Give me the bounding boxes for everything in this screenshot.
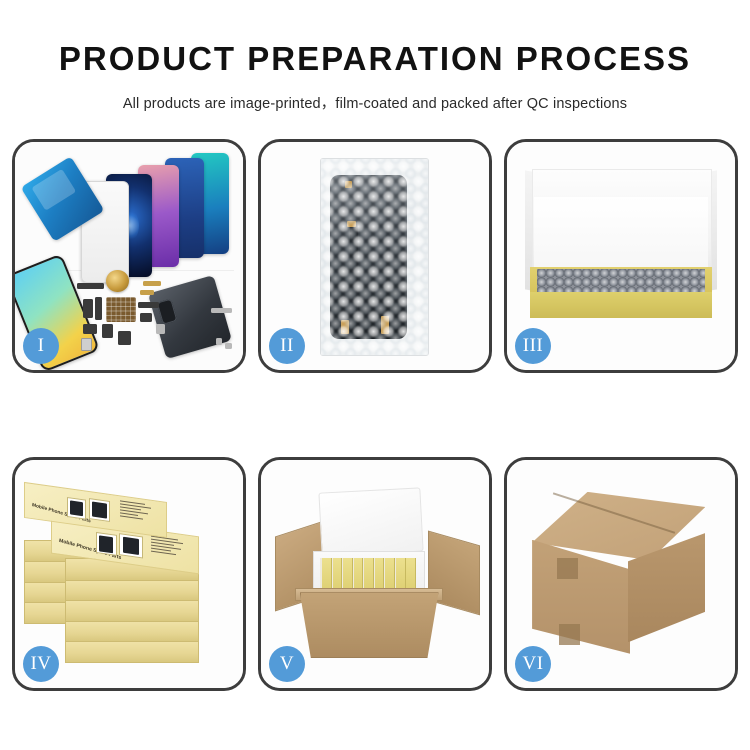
spare-part	[156, 324, 165, 333]
process-step-panel-4[interactable]: Mobile Phone Spare Parts Mobile Phone Sp…	[12, 457, 246, 691]
spare-part	[140, 290, 154, 295]
carton-tape-patch-lower	[559, 624, 580, 645]
spare-part	[95, 297, 102, 320]
stacked-box	[65, 579, 199, 602]
bubble-wrap-contents	[537, 269, 706, 294]
stacked-box	[65, 640, 199, 663]
spare-part	[77, 283, 104, 289]
box-print-text-block	[152, 536, 190, 559]
bubble-wrap-bag	[320, 158, 429, 356]
spare-part	[102, 324, 113, 338]
spare-part	[140, 313, 151, 322]
box-window-left	[96, 532, 117, 556]
spare-part	[143, 281, 161, 286]
page-header: PRODUCT PREPARATION PROCESS All products…	[0, 0, 750, 113]
spare-part	[216, 338, 223, 345]
step-badge-4: IV	[23, 646, 59, 682]
step-badge-2: II	[269, 328, 305, 364]
spare-part	[81, 338, 92, 351]
process-step-panel-6[interactable]: VI	[504, 457, 738, 691]
foam-sheet	[534, 197, 707, 275]
carton-body	[300, 592, 439, 658]
spare-part	[118, 331, 132, 345]
box-print-text-block	[120, 500, 157, 523]
page-subtitle: All products are image-printed，film-coat…	[0, 75, 750, 113]
stacked-box	[65, 599, 199, 622]
spare-part	[83, 324, 97, 333]
spare-part	[138, 302, 159, 309]
screwdriver-tool	[211, 308, 232, 313]
bubble-texture-offset	[321, 159, 428, 355]
process-step-grid: I II	[12, 139, 738, 691]
step-badge-6: VI	[515, 646, 551, 682]
process-step-panel-5[interactable]: V	[258, 457, 492, 691]
process-step-panel-2[interactable]: II	[258, 139, 492, 373]
step-badge-1: I	[23, 328, 59, 364]
process-step-panel-3[interactable]: III	[504, 139, 738, 373]
process-step-panel-1[interactable]: I	[12, 139, 246, 373]
box-window-right	[89, 498, 111, 522]
step-badge-5: V	[269, 646, 305, 682]
carton-tape-patch-upper	[557, 558, 578, 579]
page-title: PRODUCT PREPARATION PROCESS	[0, 42, 750, 75]
chip-board-part	[106, 297, 136, 322]
spare-part	[225, 343, 232, 350]
foam-box-lid	[319, 487, 424, 556]
carton-front-face	[532, 540, 630, 654]
box-window-right	[120, 534, 144, 559]
stacked-box	[65, 620, 199, 643]
spare-part	[83, 299, 92, 317]
kraft-box-front-face	[530, 292, 712, 317]
box-window-left	[68, 497, 87, 519]
step-badge-3: III	[515, 328, 551, 364]
